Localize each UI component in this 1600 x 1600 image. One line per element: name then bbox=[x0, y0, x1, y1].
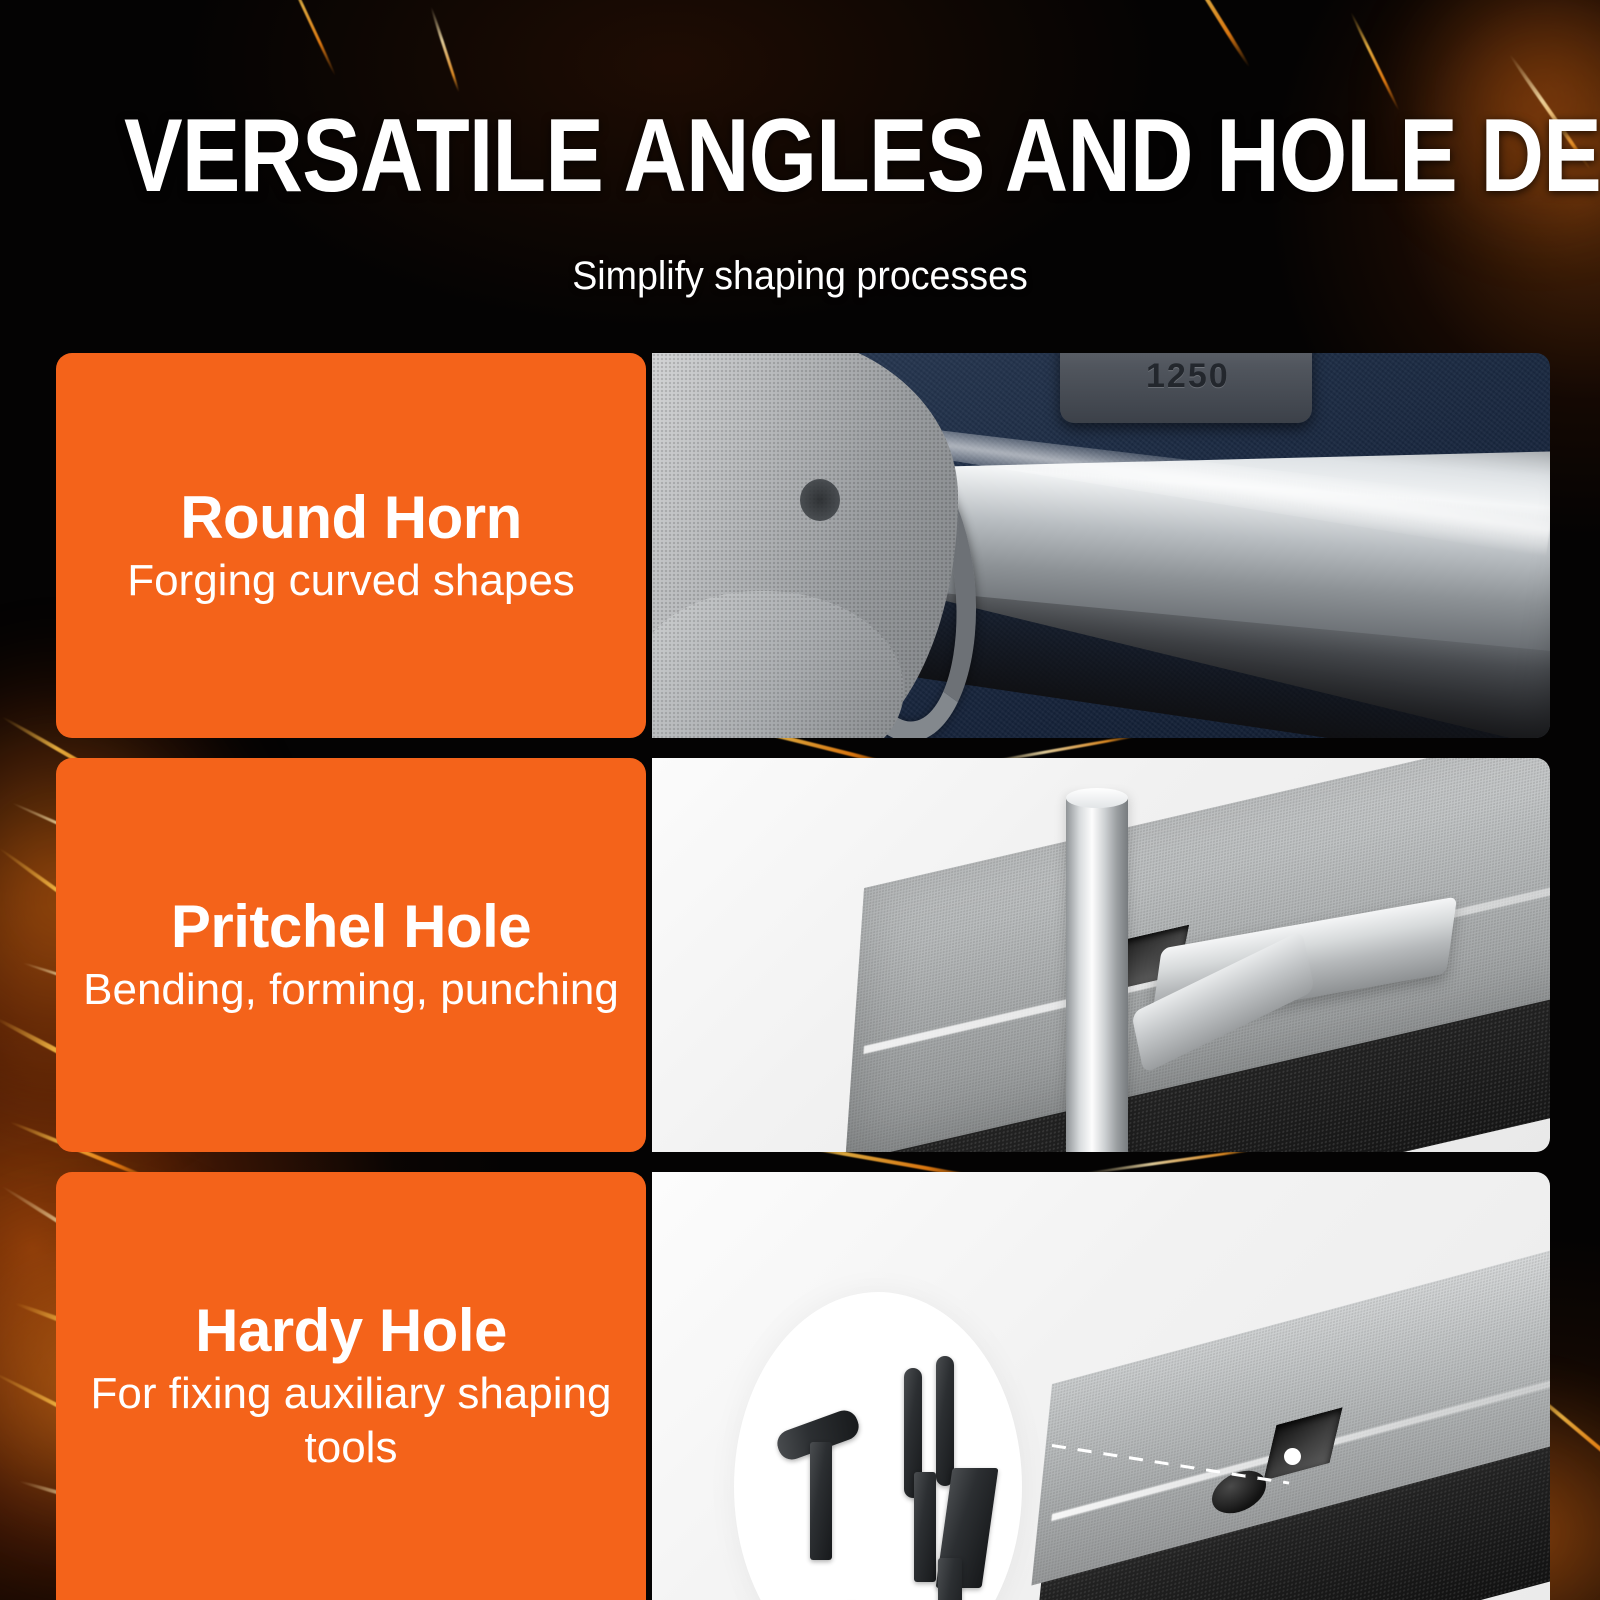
stamped-plate: 1250 bbox=[1060, 353, 1312, 423]
callout-endpoint-dot bbox=[1284, 1448, 1301, 1465]
feature-card-pritchel-hole[interactable]: Pritchel Hole Bending, forming, punching bbox=[56, 758, 646, 1152]
feature-subtitle: Bending, forming, punching bbox=[83, 963, 619, 1017]
hardy-tool-2-prong-right bbox=[936, 1356, 954, 1486]
page-subtitle: Simplify shaping processes bbox=[48, 252, 1552, 300]
feature-title: Hardy Hole bbox=[195, 1297, 507, 1365]
feature-subtitle: For fixing auxiliary shaping tools bbox=[82, 1367, 620, 1475]
feature-card-hardy-hole[interactable]: Hardy Hole For fixing auxiliary shaping … bbox=[56, 1172, 646, 1600]
feature-subtitle: Forging curved shapes bbox=[127, 554, 575, 608]
pritchel-hole-photo bbox=[652, 758, 1550, 1152]
steel-rod bbox=[1066, 796, 1128, 1152]
feature-title: Pritchel Hole bbox=[171, 893, 531, 961]
page-title: VERSATILE ANGLES AND HOLE DESIGN bbox=[124, 104, 1476, 208]
plate-stamp-text: 1250 bbox=[1146, 357, 1230, 396]
round-horn-photo: 1250 bbox=[652, 353, 1550, 738]
hardy-tool-3-shank bbox=[938, 1558, 962, 1600]
promo-banner: VERSATILE ANGLES AND HOLE DESIGN Simplif… bbox=[0, 0, 1600, 1600]
feature-row-hardy-hole: Hardy Hole For fixing auxiliary shaping … bbox=[56, 1172, 1550, 1600]
feature-row-pritchel-hole: Pritchel Hole Bending, forming, punching bbox=[56, 758, 1550, 1152]
hardy-tool-1-shank bbox=[810, 1442, 832, 1560]
feature-card-round-horn[interactable]: Round Horn Forging curved shapes bbox=[56, 353, 646, 738]
feature-title: Round Horn bbox=[180, 484, 522, 552]
feature-row-round-horn: Round Horn Forging curved shapes 1250 bbox=[56, 353, 1550, 738]
rod-top-cap bbox=[1066, 788, 1128, 808]
hardy-hole-photo bbox=[652, 1172, 1550, 1600]
glove-crease bbox=[800, 479, 840, 521]
hardy-tool-2-shank bbox=[914, 1472, 936, 1582]
